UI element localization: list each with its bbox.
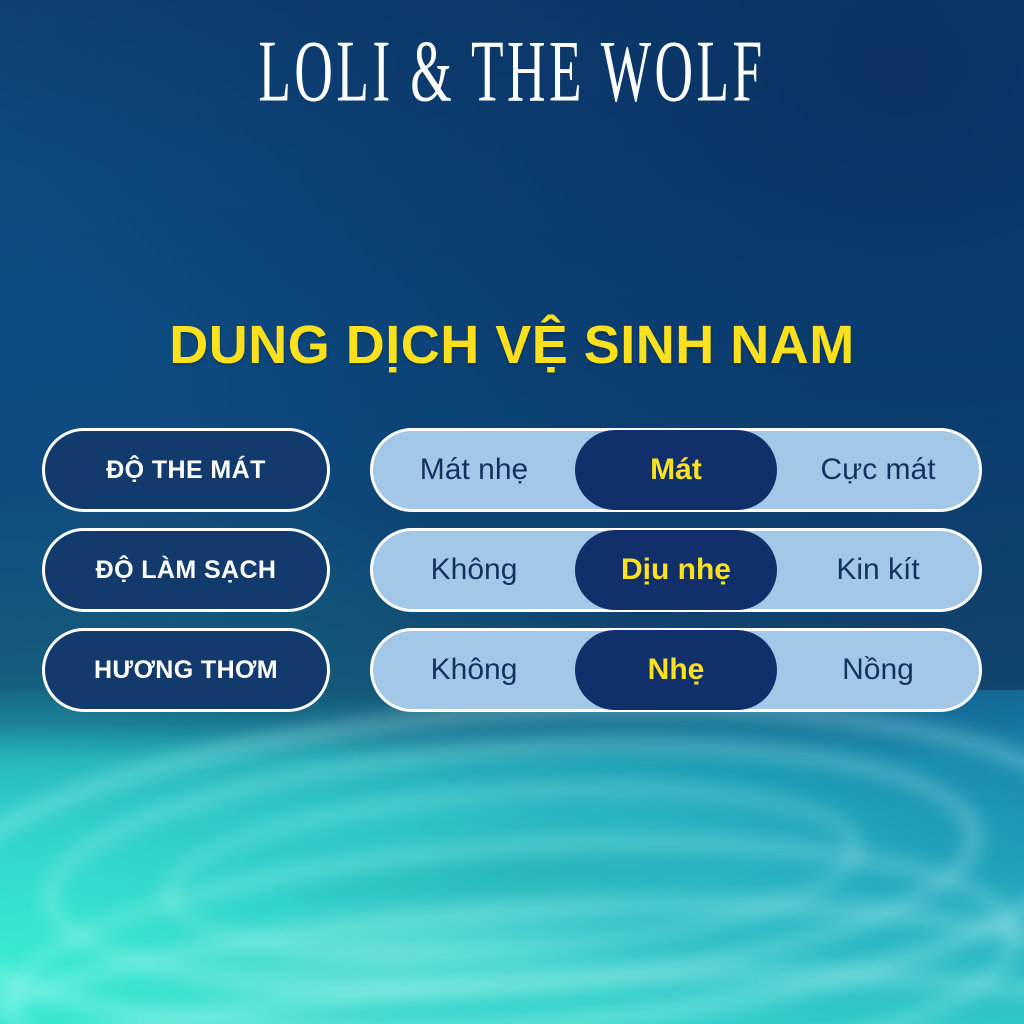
attribute-row: ĐỘ LÀM SẠCH Không Dịu nhẹ Kin kít bbox=[42, 528, 982, 612]
row-label-fragrance: HƯƠNG THƠM bbox=[42, 628, 330, 712]
option-coolness-1[interactable]: Mát bbox=[575, 431, 777, 509]
page-title: DUNG DỊCH VỆ SINH NAM bbox=[0, 314, 1024, 376]
row-label-coolness: ĐỘ THE MÁT bbox=[42, 428, 330, 512]
option-track-cleansing[interactable]: Không Dịu nhẹ Kin kít bbox=[370, 528, 982, 612]
option-fragrance-1[interactable]: Nhẹ bbox=[575, 631, 777, 709]
option-coolness-2[interactable]: Cực mát bbox=[777, 431, 979, 509]
attribute-rows: ĐỘ THE MÁT Mát nhẹ Mát Cực mát ĐỘ LÀM SẠ… bbox=[42, 428, 982, 712]
option-cleansing-0[interactable]: Không bbox=[373, 531, 575, 609]
option-cleansing-1[interactable]: Dịu nhẹ bbox=[575, 531, 777, 609]
option-fragrance-2[interactable]: Nồng bbox=[777, 631, 979, 709]
water-ripple-graphic bbox=[0, 690, 1024, 1024]
option-track-coolness[interactable]: Mát nhẹ Mát Cực mát bbox=[370, 428, 982, 512]
option-track-fragrance[interactable]: Không Nhẹ Nồng bbox=[370, 628, 982, 712]
option-fragrance-0[interactable]: Không bbox=[373, 631, 575, 709]
row-label-cleansing: ĐỘ LÀM SẠCH bbox=[42, 528, 330, 612]
option-cleansing-2[interactable]: Kin kít bbox=[777, 531, 979, 609]
attribute-row: HƯƠNG THƠM Không Nhẹ Nồng bbox=[42, 628, 982, 712]
attribute-row: ĐỘ THE MÁT Mát nhẹ Mát Cực mát bbox=[42, 428, 982, 512]
brand-logo: LOLI & THE WOLF bbox=[72, 28, 953, 116]
option-coolness-0[interactable]: Mát nhẹ bbox=[373, 431, 575, 509]
poster-canvas: LOLI & THE WOLF DUNG DỊCH VỆ SINH NAM ĐỘ… bbox=[0, 0, 1024, 1024]
